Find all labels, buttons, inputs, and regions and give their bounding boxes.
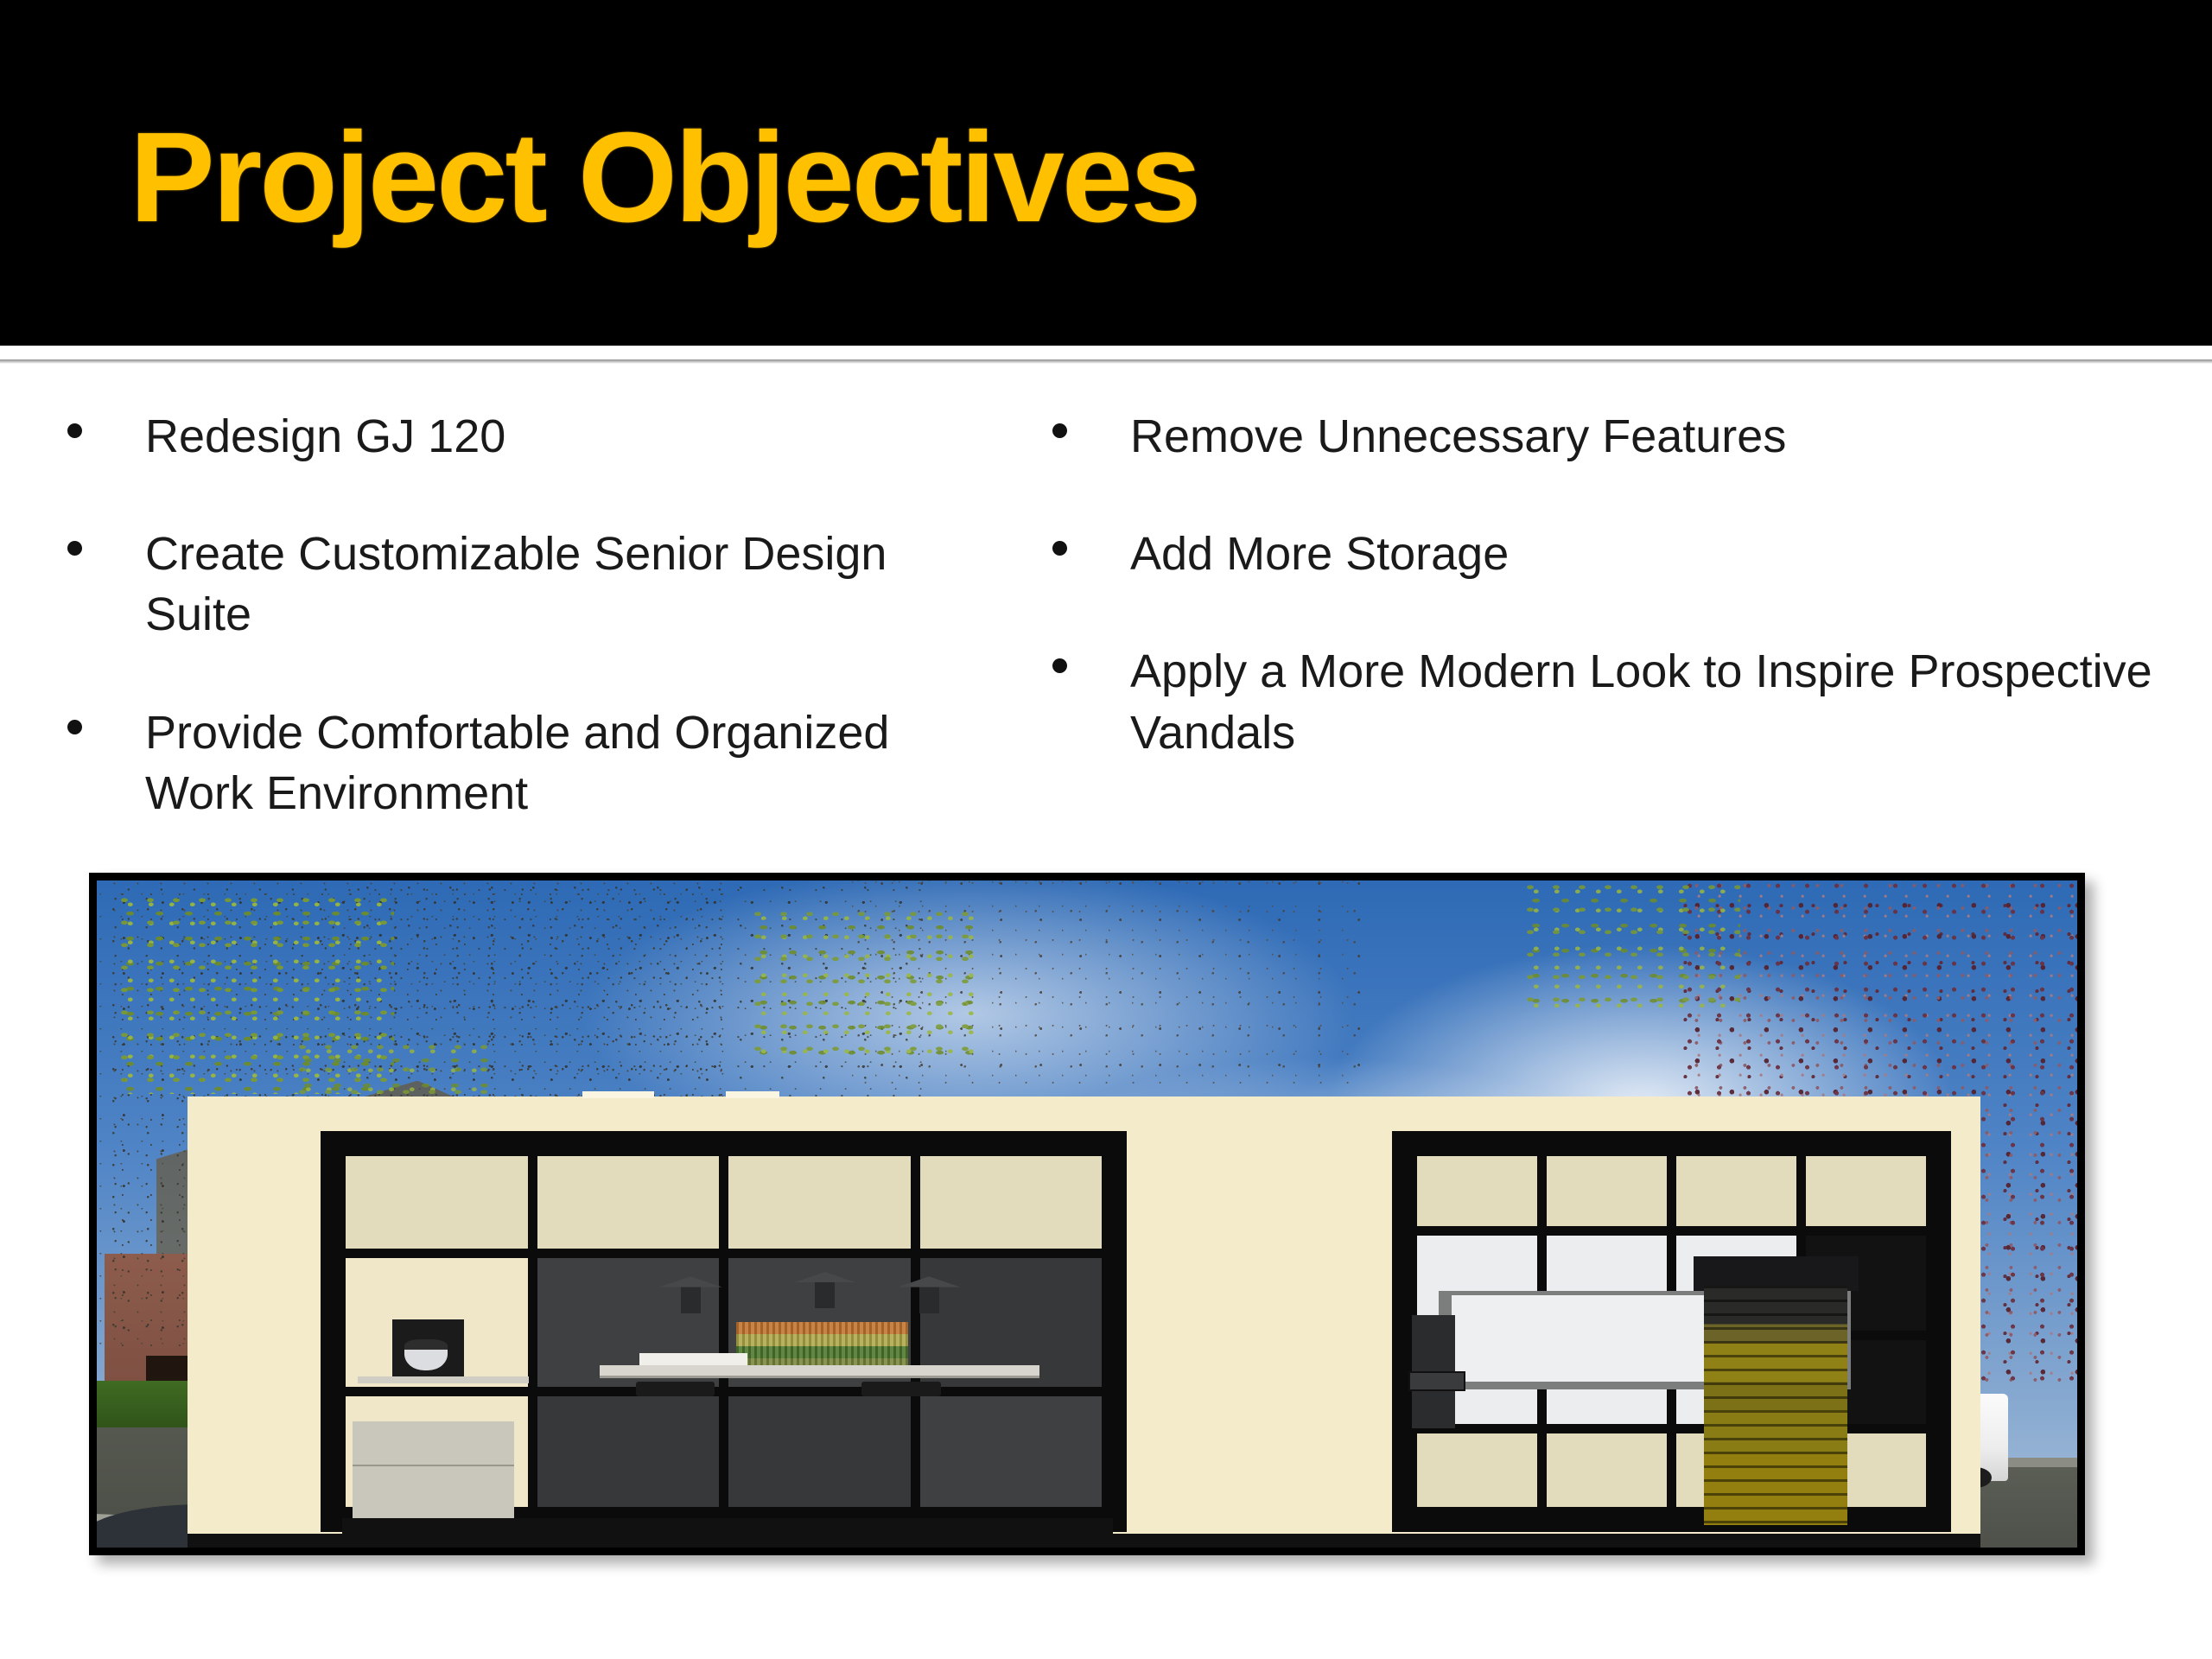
presentation-slide: Project Objectives Redesign GJ 120 Creat… xyxy=(0,0,2212,1659)
objectives-left-column: Redesign GJ 120 Create Customizable Seni… xyxy=(35,406,1002,880)
window-pane xyxy=(728,1156,911,1249)
desk-lamp-icon xyxy=(919,1281,939,1313)
window-pane xyxy=(1806,1156,1926,1226)
list-item: Provide Comfortable and Organized Work E… xyxy=(35,702,1002,823)
bullet-dot-icon xyxy=(67,423,82,438)
rendering-canvas xyxy=(97,880,2077,1548)
list-item-label: Create Customizable Senior Design Suite xyxy=(145,528,887,640)
desk-lamp-icon xyxy=(815,1277,835,1309)
wall-poster xyxy=(736,1322,908,1369)
interior-chair xyxy=(861,1382,940,1396)
list-item-label: Add More Storage xyxy=(1130,528,1509,580)
list-item: Create Customizable Senior Design Suite xyxy=(35,524,1002,645)
window-pane xyxy=(728,1396,911,1507)
window-pane xyxy=(1417,1433,1537,1507)
window-pane xyxy=(537,1396,720,1507)
bullet-dot-icon xyxy=(1052,658,1067,673)
window-pane xyxy=(1547,1433,1667,1507)
leaf-cluster xyxy=(1522,880,1740,1014)
window-pane xyxy=(537,1156,720,1249)
bullet-dot-icon xyxy=(67,541,82,556)
bullet-dot-icon xyxy=(1052,541,1067,556)
side-cabinet-detail xyxy=(1408,1371,1465,1391)
window-pane xyxy=(920,1396,1103,1507)
page-title: Project Objectives xyxy=(130,114,1198,242)
list-item: Apply a More Modern Look to Inspire Pros… xyxy=(1020,641,2177,762)
interior-cabinet xyxy=(353,1421,514,1525)
facade-base-band xyxy=(188,1534,1980,1548)
decorative-vase xyxy=(404,1339,448,1371)
list-item: Remove Unnecessary Features xyxy=(1020,406,2177,467)
window-pane xyxy=(1676,1156,1796,1226)
list-item: Redesign GJ 120 xyxy=(35,406,1002,467)
parapet-detail xyxy=(726,1091,779,1097)
building-rendering-image xyxy=(89,873,2085,1555)
interior-counter xyxy=(358,1376,528,1383)
window-pane xyxy=(1417,1156,1537,1226)
building-facade xyxy=(188,1096,1980,1548)
objectives-right-column: Remove Unnecessary Features Add More Sto… xyxy=(1020,406,2177,820)
window-pane xyxy=(1547,1156,1667,1226)
window-pane xyxy=(920,1156,1103,1249)
list-item-label: Remove Unnecessary Features xyxy=(1130,410,1786,462)
facade-pier-right xyxy=(1951,1096,1980,1548)
desk-lamp-icon xyxy=(681,1281,701,1313)
bullet-dot-icon xyxy=(67,720,82,734)
list-item-label: Provide Comfortable and Organized Work E… xyxy=(145,707,889,819)
storage-shelving-unit xyxy=(1704,1286,1847,1525)
slide-header-bar: Project Objectives xyxy=(0,0,2212,346)
list-item-label: Apply a More Modern Look to Inspire Pros… xyxy=(1130,645,2152,758)
leaf-cluster xyxy=(750,907,988,1067)
bullet-dot-icon xyxy=(1052,423,1067,438)
header-divider-rule xyxy=(0,359,2212,364)
list-item: Add More Storage xyxy=(1020,524,2177,584)
parapet-detail xyxy=(582,1091,654,1097)
list-item-label: Redesign GJ 120 xyxy=(145,410,505,462)
facade-pier-left xyxy=(188,1096,320,1548)
facade-pier-center xyxy=(1136,1096,1387,1548)
work-table xyxy=(600,1365,1039,1376)
interior-chair xyxy=(636,1382,715,1396)
window-pane xyxy=(346,1156,528,1249)
